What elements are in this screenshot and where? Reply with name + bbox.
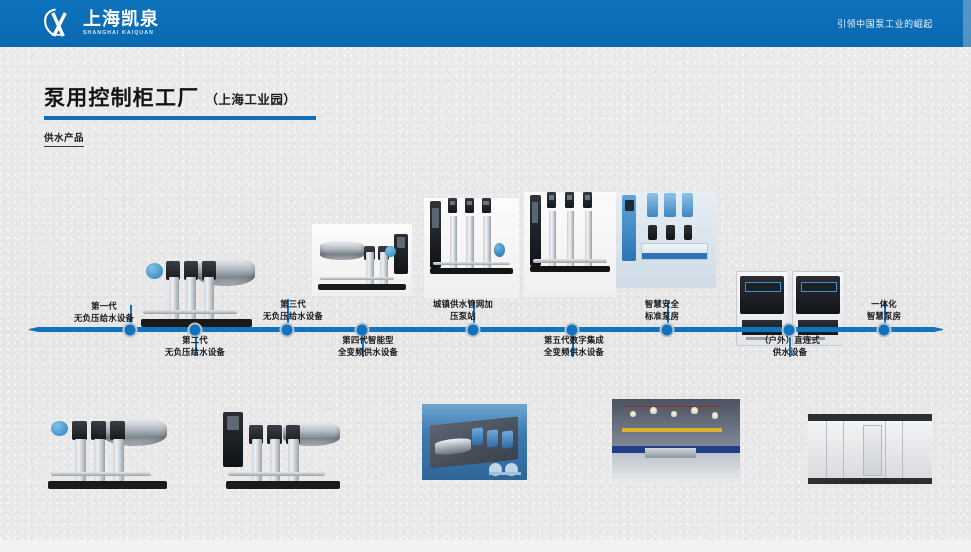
slide-canvas: 泵用控制柜工厂 （上海工业园） 供水产品 bbox=[0, 47, 971, 552]
booster-render-illustration bbox=[422, 404, 527, 480]
photo-gen2[interactable] bbox=[40, 402, 175, 497]
blue-kit-illustration bbox=[622, 192, 710, 261]
label-line-2: 压泵站 bbox=[433, 311, 493, 323]
timeline-label-smart: 智慧安全 标准泵房 bbox=[645, 299, 679, 323]
timeline-label-gen1: 第一代 无负压给水设备 bbox=[74, 301, 134, 325]
node-dot bbox=[877, 322, 892, 337]
photo-smart-room[interactable] bbox=[612, 399, 740, 483]
label-line-2: 标准泵房 bbox=[645, 311, 679, 323]
label-line-2: 无负压给水设备 bbox=[74, 313, 134, 325]
pump-skid-illustration bbox=[312, 224, 412, 296]
timeline-label-integrated: 一体化 智慧泵房 bbox=[867, 299, 901, 323]
photo-gen4[interactable] bbox=[218, 402, 348, 497]
photo-gen1[interactable] bbox=[133, 240, 260, 335]
timeline-label-gen3: 第三代 无负压给水设备 bbox=[263, 299, 323, 323]
pump-skid-illustration bbox=[218, 402, 348, 497]
canvas-bottom-band bbox=[0, 540, 971, 552]
slide-root: 上海凯泉 SHANGHAI KAIQUAN 引领中国泵工业的崛起 泵用控制柜工厂… bbox=[0, 0, 971, 552]
timeline-node-smart[interactable] bbox=[660, 322, 675, 337]
timeline-node-integrated[interactable] bbox=[877, 322, 892, 337]
node-dot bbox=[280, 322, 295, 337]
label-line-1: 第一代 bbox=[74, 301, 134, 313]
timeline-label-booster: 城镇供水管网加 压泵站 bbox=[433, 299, 493, 323]
photo-gen5c[interactable] bbox=[616, 192, 716, 288]
brand-name-cn: 上海凯泉 bbox=[83, 10, 159, 28]
container-pumphouse-illustration bbox=[800, 402, 940, 490]
vfd-rack-illustration bbox=[530, 192, 611, 266]
kaiquan-logo-icon bbox=[42, 7, 76, 39]
timeline-node-gen3[interactable] bbox=[280, 322, 295, 337]
brand-name-en: SHANGHAI KAIQUAN bbox=[83, 31, 159, 36]
label-line-1: 第三代 bbox=[263, 299, 323, 311]
label-line-1: 第四代智能型 bbox=[338, 335, 398, 347]
label-line-2: 无负压给水设备 bbox=[263, 311, 323, 323]
photo-gen3[interactable] bbox=[312, 224, 412, 296]
label-line-1: 智慧安全 bbox=[645, 299, 679, 311]
label-line-1: 一体化 bbox=[867, 299, 901, 311]
timeline-label-gen2: 第二代 无负压给水设备 bbox=[165, 335, 225, 359]
page-title-suffix: （上海工业园） bbox=[205, 89, 296, 109]
node-dot bbox=[660, 322, 675, 337]
label-line-1: （户外）直连式 bbox=[760, 335, 820, 347]
vfd-rack-illustration bbox=[430, 198, 514, 268]
title-underline bbox=[44, 116, 316, 120]
pump-skid-illustration bbox=[40, 402, 175, 497]
brand-logo[interactable]: 上海凯泉 SHANGHAI KAIQUAN bbox=[42, 7, 159, 39]
photo-booster[interactable] bbox=[422, 404, 527, 480]
header-slogan: 引领中国泵工业的崛起 bbox=[837, 0, 933, 47]
timeline-label-gen4: 第四代智能型 全变频供水设备 bbox=[338, 335, 398, 359]
label-line-2: 无负压给水设备 bbox=[165, 347, 225, 359]
timeline-label-outdoor: （户外）直连式 供水设备 bbox=[760, 335, 820, 359]
label-line-1: 第五代数字集成 bbox=[544, 335, 604, 347]
page-title: 泵用控制柜工厂 bbox=[44, 88, 199, 109]
label-line-2: 智慧泵房 bbox=[867, 311, 901, 323]
label-line-2: 全变频供水设备 bbox=[338, 347, 398, 359]
photo-gen5a[interactable] bbox=[424, 198, 519, 298]
pump-room-illustration bbox=[612, 399, 740, 483]
title-block: 泵用控制柜工厂 （上海工业园） bbox=[44, 88, 316, 120]
section-label: 供水产品 bbox=[44, 130, 84, 147]
photo-gen5b[interactable] bbox=[524, 192, 616, 297]
booster-render-watermark bbox=[489, 463, 521, 475]
page-header: 上海凯泉 SHANGHAI KAIQUAN 引领中国泵工业的崛起 bbox=[0, 0, 971, 47]
timeline-label-gen5: 第五代数字集成 全变频供水设备 bbox=[544, 335, 604, 359]
photo-integrated[interactable] bbox=[800, 402, 940, 490]
timeline-node-booster[interactable] bbox=[466, 322, 481, 337]
node-dot bbox=[466, 322, 481, 337]
label-line-2: 供水设备 bbox=[760, 347, 820, 359]
label-line-2: 全变频供水设备 bbox=[544, 347, 604, 359]
header-edge-accent bbox=[963, 0, 971, 47]
pump-skid-illustration bbox=[133, 240, 260, 335]
label-line-1: 城镇供水管网加 bbox=[433, 299, 493, 311]
label-line-1: 第二代 bbox=[165, 335, 225, 347]
timeline-bar bbox=[38, 327, 934, 332]
